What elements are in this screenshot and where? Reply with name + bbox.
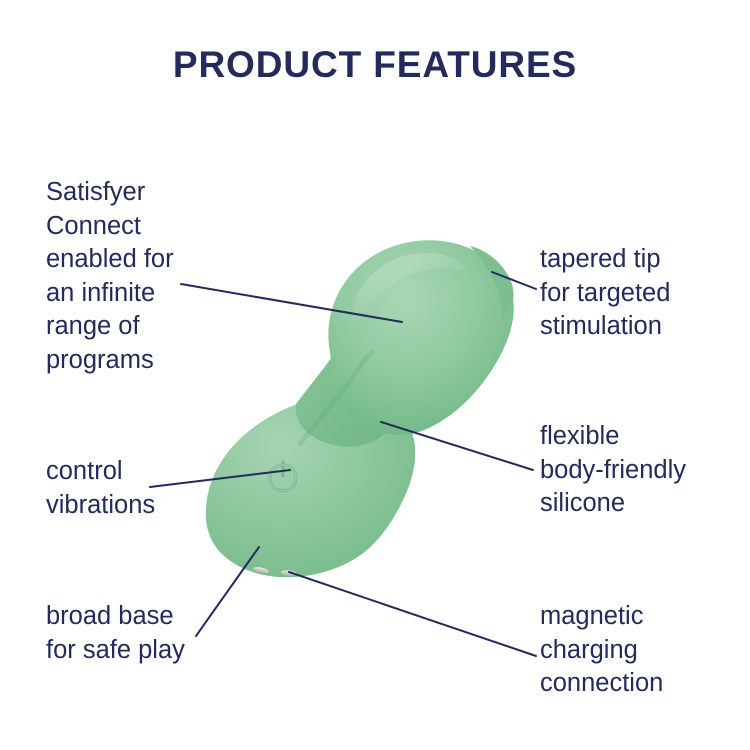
feature-broad-base: broad base for safe play [46,600,246,667]
feature-flexible-silicone: flexible body-friendly silicone [540,420,750,521]
product-features-infographic: PRODUCT FEATURES [0,0,750,750]
feature-control-vibrations: control vibrations [46,455,236,522]
feature-tapered-tip: tapered tip for targeted stimulation [540,243,750,344]
feature-magnetic-charging: magnetic charging connection [540,600,740,701]
leader-line-magnetic [289,572,536,656]
feature-satisfyer-connect: Satisfyer Connect enabled for an infinit… [46,176,246,377]
